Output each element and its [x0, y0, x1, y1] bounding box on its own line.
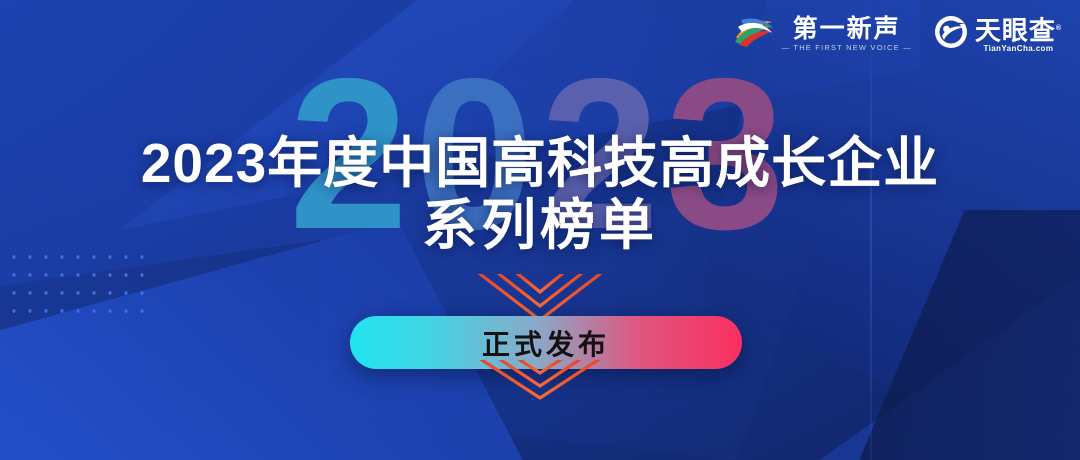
logo-diyixinsheng-en: — THE FIRST NEW VOICE —	[782, 43, 912, 53]
logo-tianyancha-cn-chars: 天眼查	[975, 15, 1056, 45]
release-status-label: 正式发布	[482, 323, 610, 363]
headline-line-1: 2023年度中国高科技高成长企业	[0, 132, 1080, 194]
logo-tianyancha-text: 天眼查® TianYanCha.com	[975, 15, 1062, 55]
chevron-down-lines-icon-top	[445, 274, 635, 322]
diyixinsheng-swirl-icon	[733, 14, 775, 55]
logo-tianyancha-cn: 天眼查®	[975, 15, 1062, 45]
release-status-badge[interactable]: 正式发布	[350, 316, 742, 369]
logo-tianyancha-en: TianYanCha.com	[983, 44, 1053, 54]
tianyancha-eye-icon	[934, 15, 968, 54]
logo-diyixinsheng[interactable]: 第一新声 — THE FIRST NEW VOICE —	[733, 14, 912, 55]
registered-trademark-icon: ®	[1056, 25, 1062, 32]
page-title: 2023年度中国高科技高成长企业 系列榜单	[0, 132, 1080, 256]
headline-line-2: 系列榜单	[0, 194, 1080, 256]
logo-diyixinsheng-cn: 第一新声	[793, 16, 901, 43]
partner-logo-bar: 第一新声 — THE FIRST NEW VOICE — 天眼查® TianYa…	[733, 14, 1062, 55]
promo-banner: 2023 2023年度中国高科技高成长企业 系列榜单 正式发布	[0, 0, 1080, 460]
logo-diyixinsheng-text: 第一新声 — THE FIRST NEW VOICE —	[782, 16, 912, 53]
logo-tianyancha[interactable]: 天眼查® TianYanCha.com	[934, 15, 1062, 55]
